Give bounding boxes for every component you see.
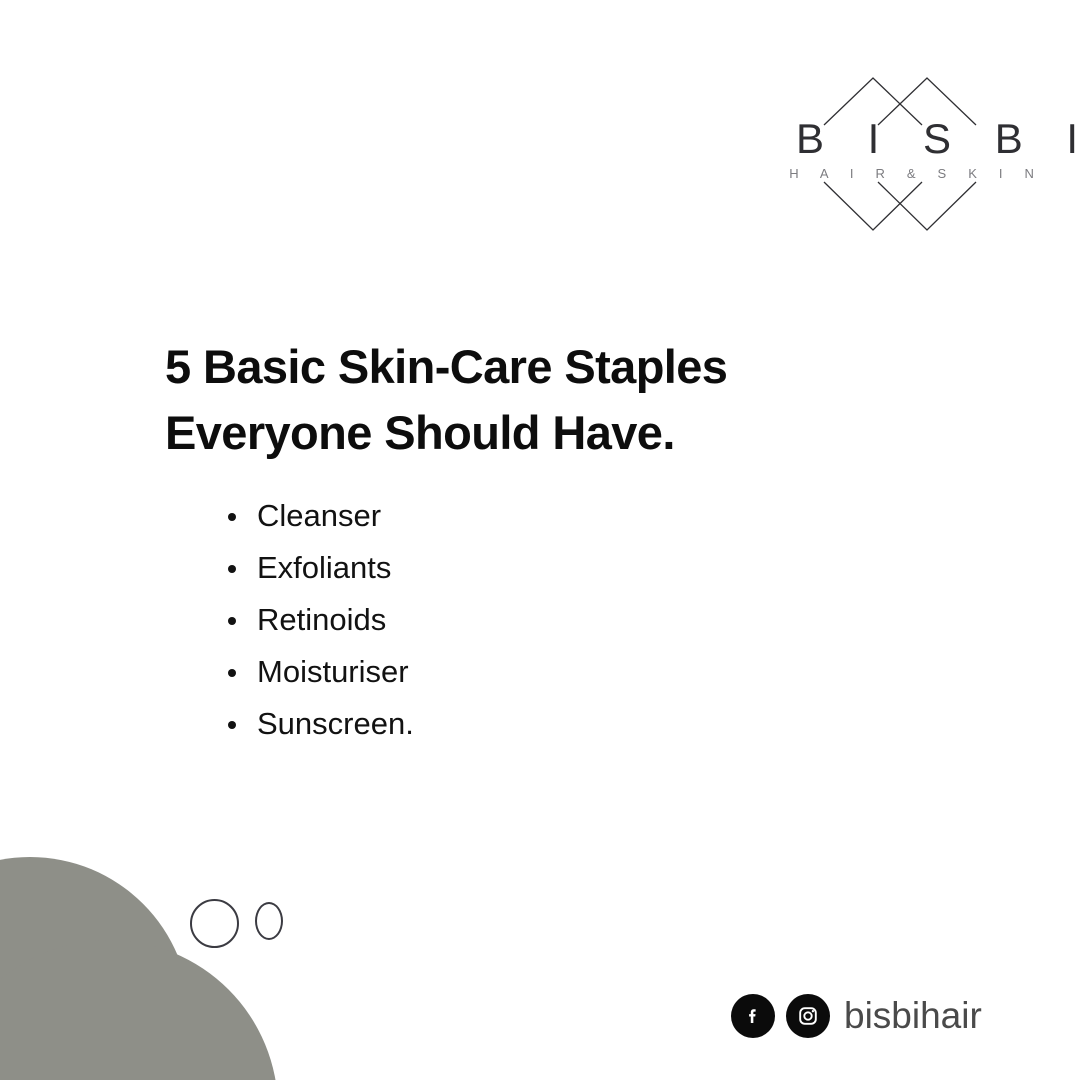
list-item-label: Retinoids — [257, 602, 386, 637]
bullet-dot-icon — [228, 565, 236, 573]
social-footer: bisbihair — [731, 988, 982, 1044]
list-item: Moisturiser — [225, 650, 414, 702]
outline-circle-small — [255, 902, 283, 940]
facebook-glyph — [741, 1004, 765, 1028]
list-item-label: Exfoliants — [257, 550, 391, 585]
logo-wordmark: B I S B I — [780, 117, 1020, 161]
list-item: Exfoliants — [225, 546, 414, 598]
instagram-icon[interactable] — [786, 994, 830, 1038]
gray-blob-shape — [0, 845, 300, 1080]
list-item: Sunscreen. — [225, 702, 414, 754]
logo-tagline: H A I R & S K I N — [780, 166, 1020, 181]
bullet-dot-icon — [228, 617, 236, 625]
staples-list: Cleanser Exfoliants Retinoids Moisturise… — [225, 494, 414, 754]
page-title: 5 Basic Skin-Care Staples Everyone Shoul… — [165, 334, 885, 466]
social-post-canvas: B I S B I H A I R & S K I N 5 Basic Skin… — [0, 0, 1080, 1080]
bullet-dot-icon — [228, 721, 236, 729]
brand-logo: B I S B I H A I R & S K I N — [780, 70, 1020, 240]
blob-circle-upper — [0, 857, 190, 1080]
outline-circle-large — [190, 899, 239, 948]
list-item-label: Moisturiser — [257, 654, 409, 689]
bullet-dot-icon — [228, 513, 236, 521]
list-item-label: Sunscreen. — [257, 706, 414, 741]
instagram-glyph — [795, 1003, 821, 1029]
headline-line-2: Everyone Should Have. — [165, 400, 885, 466]
headline-line-1: 5 Basic Skin-Care Staples — [165, 334, 885, 400]
bullet-dot-icon — [228, 669, 236, 677]
blob-circle-lower — [0, 940, 278, 1080]
list-item-label: Cleanser — [257, 498, 381, 533]
facebook-icon[interactable] — [731, 994, 775, 1038]
list-item: Retinoids — [225, 598, 414, 650]
list-item: Cleanser — [225, 494, 414, 546]
social-handle: bisbihair — [844, 994, 982, 1038]
